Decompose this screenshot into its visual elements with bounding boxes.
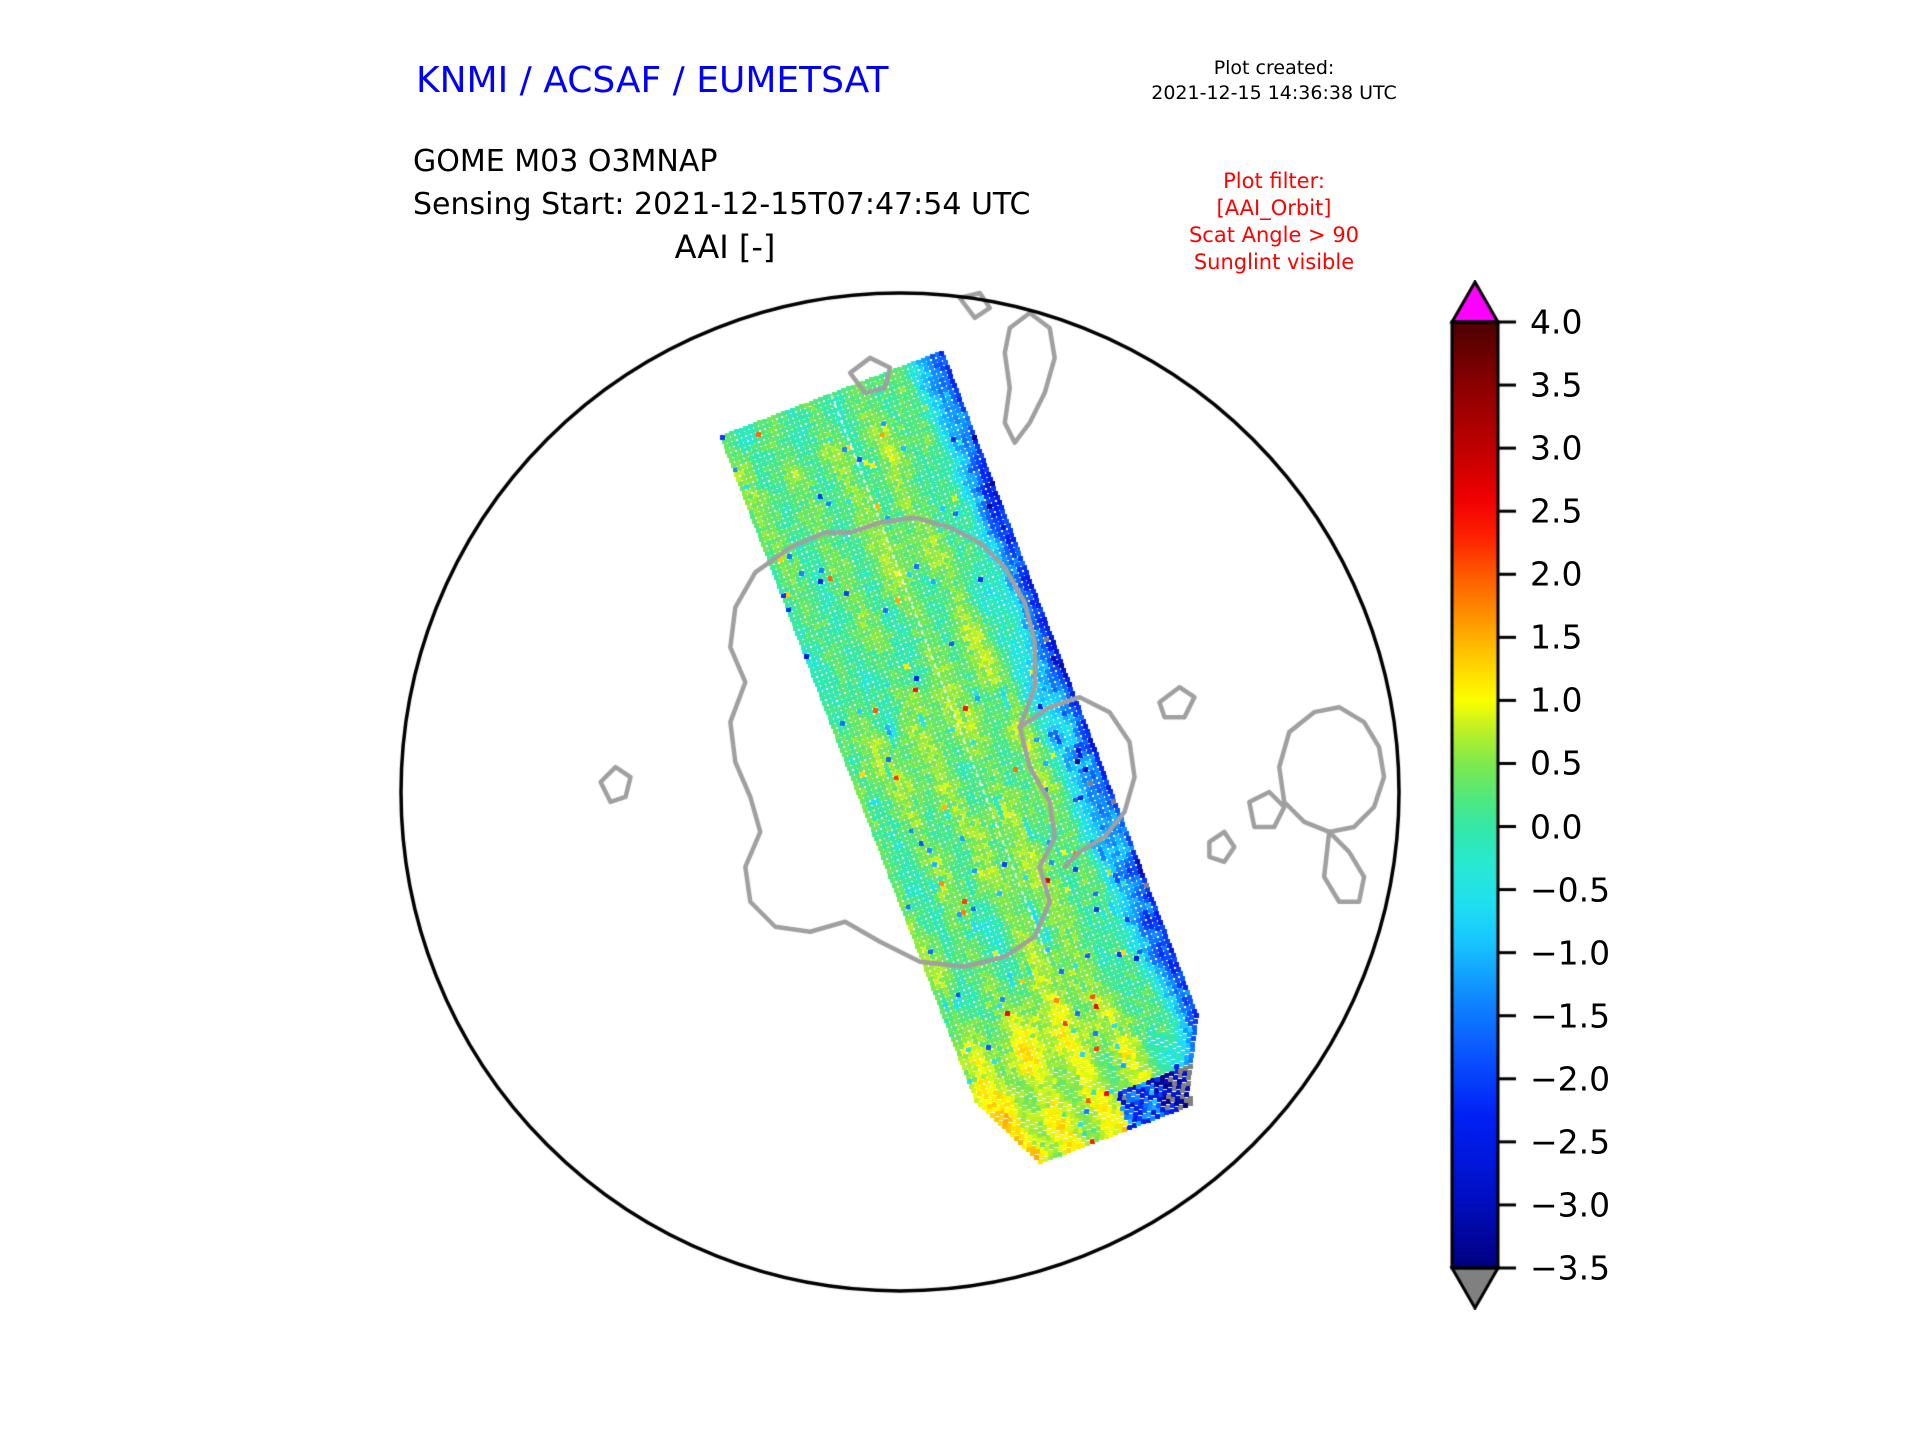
colorbar-tick-label: −0.5 — [1530, 870, 1610, 909]
page-title-organisations: KNMI / ACSAF / EUMETSAT — [416, 60, 888, 101]
colorbar-tick-label: −1.0 — [1530, 933, 1610, 972]
colorbar-tick-label: 0.0 — [1530, 807, 1582, 846]
plot-created-timestamp: 2021-12-15 14:36:38 UTC — [1100, 81, 1448, 106]
colorbar-tick-label: 0.5 — [1530, 744, 1582, 783]
polar-map — [395, 272, 1405, 1312]
colorbar-tick-label: 1.5 — [1530, 618, 1582, 657]
plot-created-block: Plot created: 2021-12-15 14:36:38 UTC — [1100, 56, 1448, 106]
polar-map-canvas — [395, 272, 1405, 1312]
colorbar-tick-label: −3.5 — [1530, 1249, 1610, 1288]
plot-filter-line: Plot filter: — [1100, 168, 1448, 195]
colorbar-tick-label: −2.0 — [1530, 1059, 1610, 1098]
colorbar-tick-label: 2.0 — [1530, 555, 1582, 594]
plot-created-label: Plot created: — [1100, 56, 1448, 81]
colorbar: 4.03.53.02.52.01.51.00.50.0−0.5−1.0−1.5−… — [1434, 280, 1874, 1310]
colorbar-tick-label: 3.5 — [1530, 366, 1582, 405]
colorbar-tick-label: 4.0 — [1530, 303, 1582, 342]
colorbar-tick-label: −3.0 — [1530, 1185, 1610, 1224]
colorbar-tick-label: 1.0 — [1530, 681, 1582, 720]
dataset-instrument: GOME M03 O3MNAP — [413, 140, 1030, 183]
colorbar-tick-label: 2.5 — [1530, 492, 1582, 531]
dataset-info-block: GOME M03 O3MNAP Sensing Start: 2021-12-1… — [413, 140, 1030, 226]
plot-filter-line: Scat Angle > 90 — [1100, 222, 1448, 249]
colorbar-tick-label: −1.5 — [1530, 996, 1610, 1035]
colorbar-tick-label: 3.0 — [1530, 429, 1582, 468]
plot-filter-block: Plot filter: [AAI_Orbit] Scat Angle > 90… — [1100, 168, 1448, 276]
dataset-sensing-start: Sensing Start: 2021-12-15T07:47:54 UTC — [413, 183, 1030, 226]
plot-filter-line: [AAI_Orbit] — [1100, 195, 1448, 222]
colorbar-tick-label: −2.5 — [1530, 1122, 1610, 1161]
